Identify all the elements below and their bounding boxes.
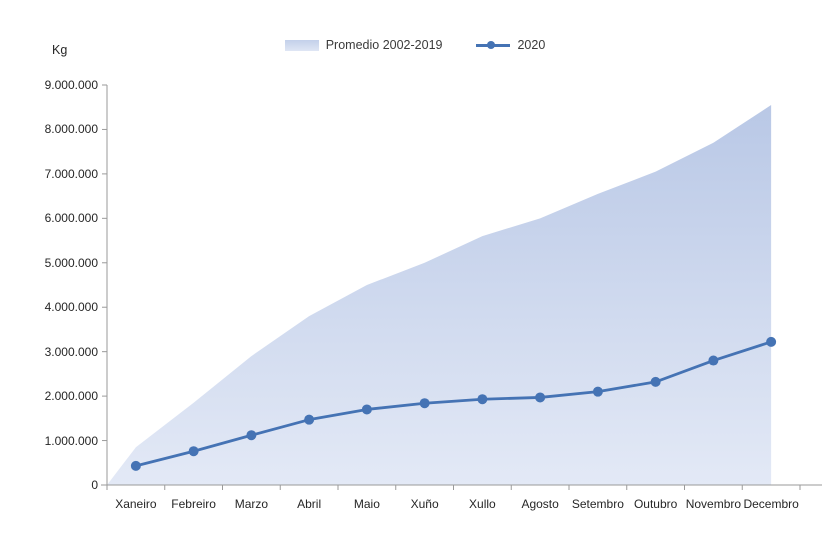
data-point-marker[interactable] xyxy=(304,415,314,425)
data-point-marker[interactable] xyxy=(651,377,661,387)
data-point-marker[interactable] xyxy=(420,398,430,408)
data-point-marker[interactable] xyxy=(131,461,141,471)
data-point-marker[interactable] xyxy=(246,430,256,440)
data-point-marker[interactable] xyxy=(593,387,603,397)
data-point-marker[interactable] xyxy=(766,337,776,347)
series-area-promedio xyxy=(107,105,771,485)
data-point-marker[interactable] xyxy=(189,446,199,456)
chart-container: Promedio 2002-2019 2020 Kg 9.000.0008.00… xyxy=(0,0,830,537)
data-point-marker[interactable] xyxy=(362,404,372,414)
data-point-marker[interactable] xyxy=(477,394,487,404)
plot-area xyxy=(0,0,830,537)
data-point-marker[interactable] xyxy=(708,356,718,366)
data-point-marker[interactable] xyxy=(535,392,545,402)
